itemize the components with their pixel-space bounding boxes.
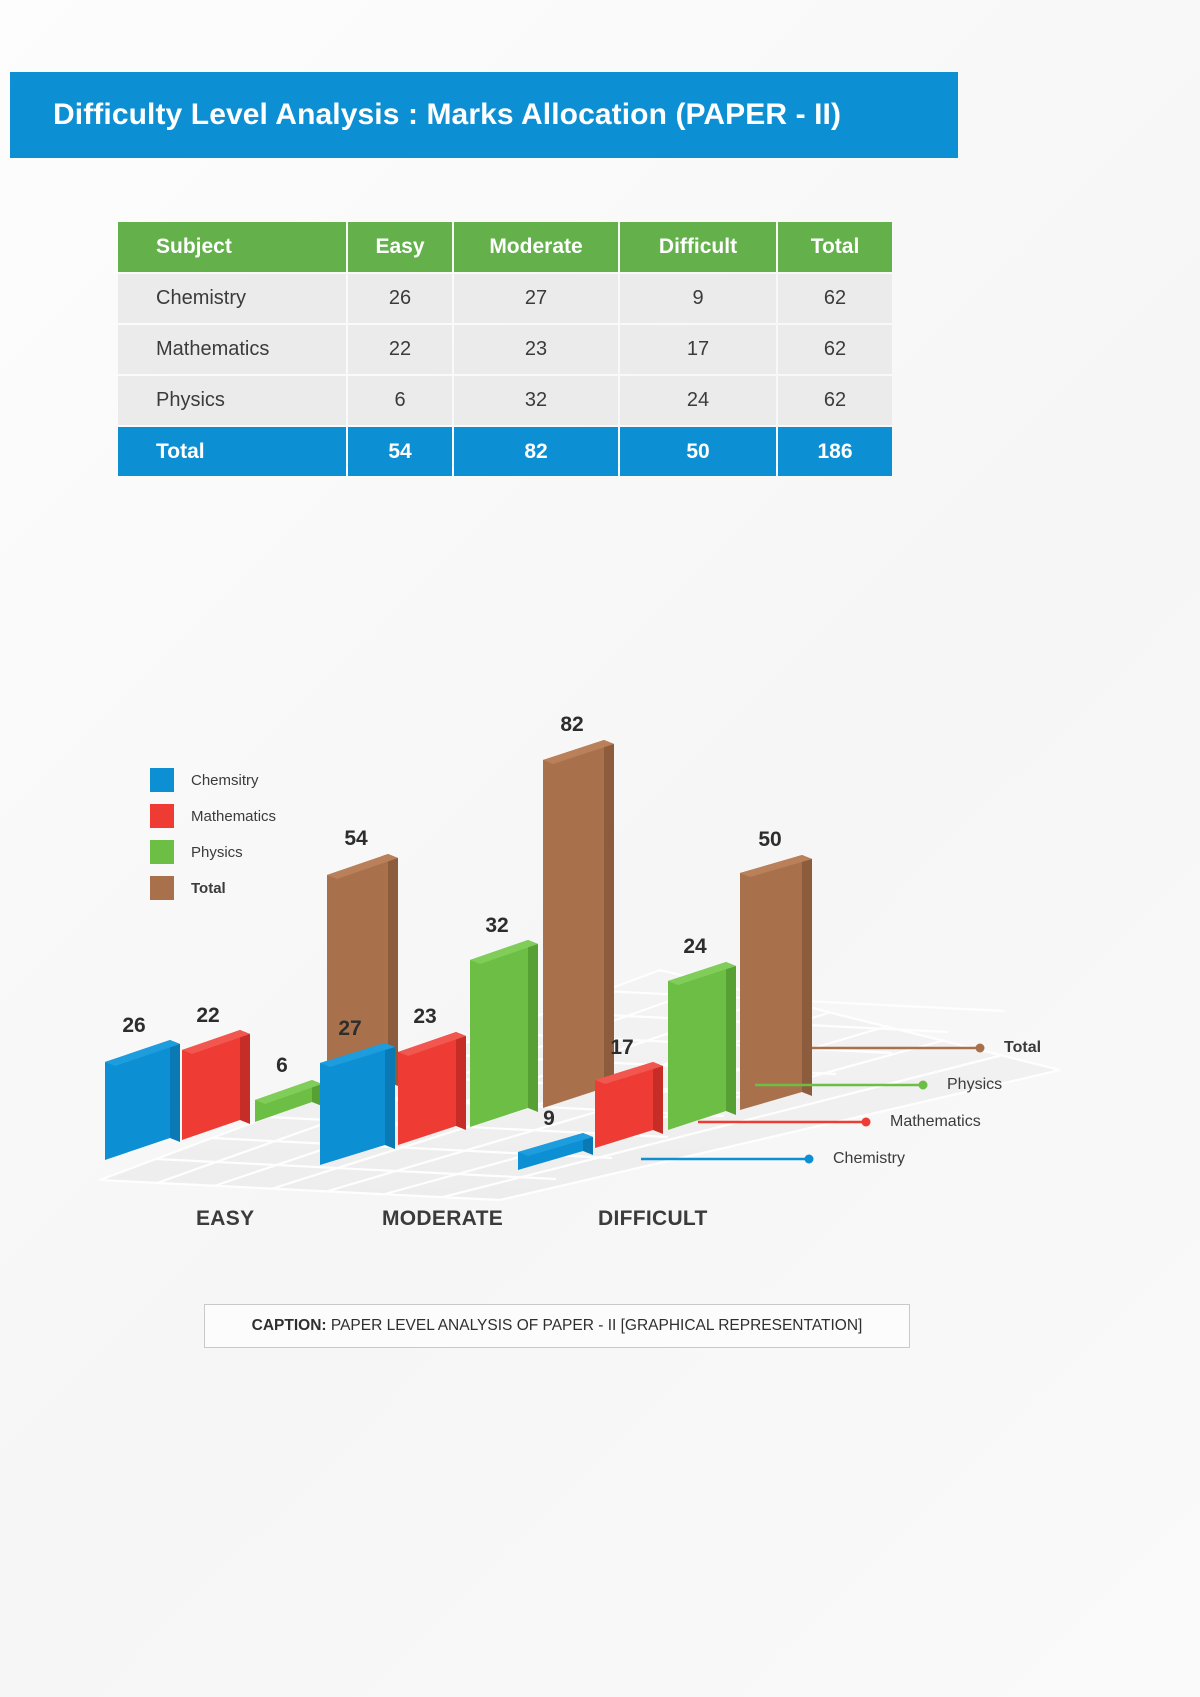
chart-canvas: 26 22 6 54 bbox=[0, 640, 1200, 1340]
legend-swatch-icon bbox=[150, 768, 174, 792]
cell-subject: Mathematics bbox=[118, 325, 346, 374]
cell-total-label: Total bbox=[118, 427, 346, 476]
cell-total-total: 186 bbox=[778, 427, 892, 476]
bar-label-difficult-total: 50 bbox=[758, 828, 781, 851]
bar-easy-chemistry bbox=[105, 1040, 180, 1160]
marks-allocation-table: Subject Easy Moderate Difficult Total Ch… bbox=[116, 220, 894, 478]
legend-item-chemistry[interactable]: Chemsitry bbox=[150, 762, 320, 798]
cell-total: 62 bbox=[778, 376, 892, 425]
cell-moderate: 32 bbox=[454, 376, 618, 425]
table-header: Subject Easy Moderate Difficult Total bbox=[118, 222, 892, 272]
bar-easy-mathematics bbox=[182, 1030, 250, 1140]
cell-easy: 26 bbox=[348, 274, 452, 323]
legend-swatch-icon bbox=[150, 876, 174, 900]
bar-label-easy-total: 54 bbox=[344, 827, 368, 850]
bar-chart-3d: 26 22 6 54 bbox=[0, 640, 1200, 1340]
cell-difficult: 17 bbox=[620, 325, 776, 374]
caption-text: CAPTION: PAPER LEVEL ANALYSIS OF PAPER -… bbox=[252, 1317, 863, 1335]
page-title: Difficulty Level Analysis : Marks Alloca… bbox=[10, 98, 841, 132]
bar-moderate-total bbox=[543, 740, 614, 1108]
cell-total: 62 bbox=[778, 274, 892, 323]
cell-subject: Chemistry bbox=[118, 274, 346, 323]
cell-moderate: 27 bbox=[454, 274, 618, 323]
table-row: Mathematics 22 23 17 62 bbox=[118, 325, 892, 374]
callout-label-total: Total bbox=[1004, 1039, 1041, 1057]
caption-box: CAPTION: PAPER LEVEL ANALYSIS OF PAPER -… bbox=[204, 1304, 910, 1348]
cell-moderate: 23 bbox=[454, 325, 618, 374]
column-header-easy: Easy bbox=[348, 222, 452, 272]
cell-total-difficult: 50 bbox=[620, 427, 776, 476]
cell-subject: Physics bbox=[118, 376, 346, 425]
poster-page: Difficulty Level Analysis : Marks Alloca… bbox=[0, 0, 1200, 1697]
axis-label-moderate: MODERATE bbox=[382, 1207, 503, 1231]
cell-total-easy: 54 bbox=[348, 427, 452, 476]
bar-label-easy-physics: 6 bbox=[276, 1054, 288, 1077]
bar-label-moderate-total: 82 bbox=[560, 713, 583, 736]
legend-swatch-icon bbox=[150, 840, 174, 864]
cell-difficult: 9 bbox=[620, 274, 776, 323]
bar-label-moderate-physics: 32 bbox=[485, 914, 508, 937]
axis-label-easy: EASY bbox=[196, 1207, 254, 1231]
bar-label-moderate-mathematics: 23 bbox=[413, 1005, 436, 1028]
bar-difficult-physics bbox=[668, 962, 736, 1130]
bar-label-easy-chemistry: 26 bbox=[122, 1014, 145, 1037]
callout-label-physics: Physics bbox=[947, 1076, 1002, 1094]
cell-total-moderate: 82 bbox=[454, 427, 618, 476]
legend-item-total[interactable]: Total bbox=[150, 870, 320, 906]
legend-label: Chemsitry bbox=[191, 772, 259, 789]
table-total-row: Total 54 82 50 186 bbox=[118, 427, 892, 476]
legend-item-mathematics[interactable]: Mathematics bbox=[150, 798, 320, 834]
table-header-row: Subject Easy Moderate Difficult Total bbox=[118, 222, 892, 272]
bar-label-difficult-physics: 24 bbox=[683, 935, 707, 958]
table-body: Chemistry 26 27 9 62 Mathematics 22 23 1… bbox=[118, 274, 892, 476]
column-header-moderate: Moderate bbox=[454, 222, 618, 272]
cell-easy: 6 bbox=[348, 376, 452, 425]
cell-easy: 22 bbox=[348, 325, 452, 374]
column-header-difficult: Difficult bbox=[620, 222, 776, 272]
legend-swatch-icon bbox=[150, 804, 174, 828]
bar-label-moderate-chemistry: 27 bbox=[338, 1017, 361, 1040]
title-banner: Difficulty Level Analysis : Marks Alloca… bbox=[10, 72, 958, 158]
cell-total: 62 bbox=[778, 325, 892, 374]
chart-legend: Chemsitry Mathematics Physics Total bbox=[150, 762, 320, 906]
bar-label-easy-mathematics: 22 bbox=[196, 1004, 219, 1027]
table-row: Physics 6 32 24 62 bbox=[118, 376, 892, 425]
bar-difficult-total bbox=[740, 855, 812, 1110]
legend-item-physics[interactable]: Physics bbox=[150, 834, 320, 870]
table-row: Chemistry 26 27 9 62 bbox=[118, 274, 892, 323]
legend-label: Total bbox=[191, 880, 226, 897]
callout-label-mathematics: Mathematics bbox=[890, 1113, 981, 1131]
bar-label-difficult-chemistry: 9 bbox=[543, 1107, 555, 1130]
callout-label-chemistry: Chemistry bbox=[833, 1150, 905, 1168]
caption-key: CAPTION: bbox=[252, 1317, 327, 1334]
bar-label-difficult-mathematics: 17 bbox=[610, 1036, 633, 1059]
legend-label: Mathematics bbox=[191, 808, 276, 825]
column-header-total: Total bbox=[778, 222, 892, 272]
legend-label: Physics bbox=[191, 844, 243, 861]
cell-difficult: 24 bbox=[620, 376, 776, 425]
bar-moderate-physics bbox=[470, 940, 538, 1127]
caption-value: PAPER LEVEL ANALYSIS OF PAPER - II [GRAP… bbox=[327, 1317, 863, 1334]
axis-label-difficult: DIFFICULT bbox=[598, 1207, 708, 1231]
column-header-subject: Subject bbox=[118, 222, 346, 272]
